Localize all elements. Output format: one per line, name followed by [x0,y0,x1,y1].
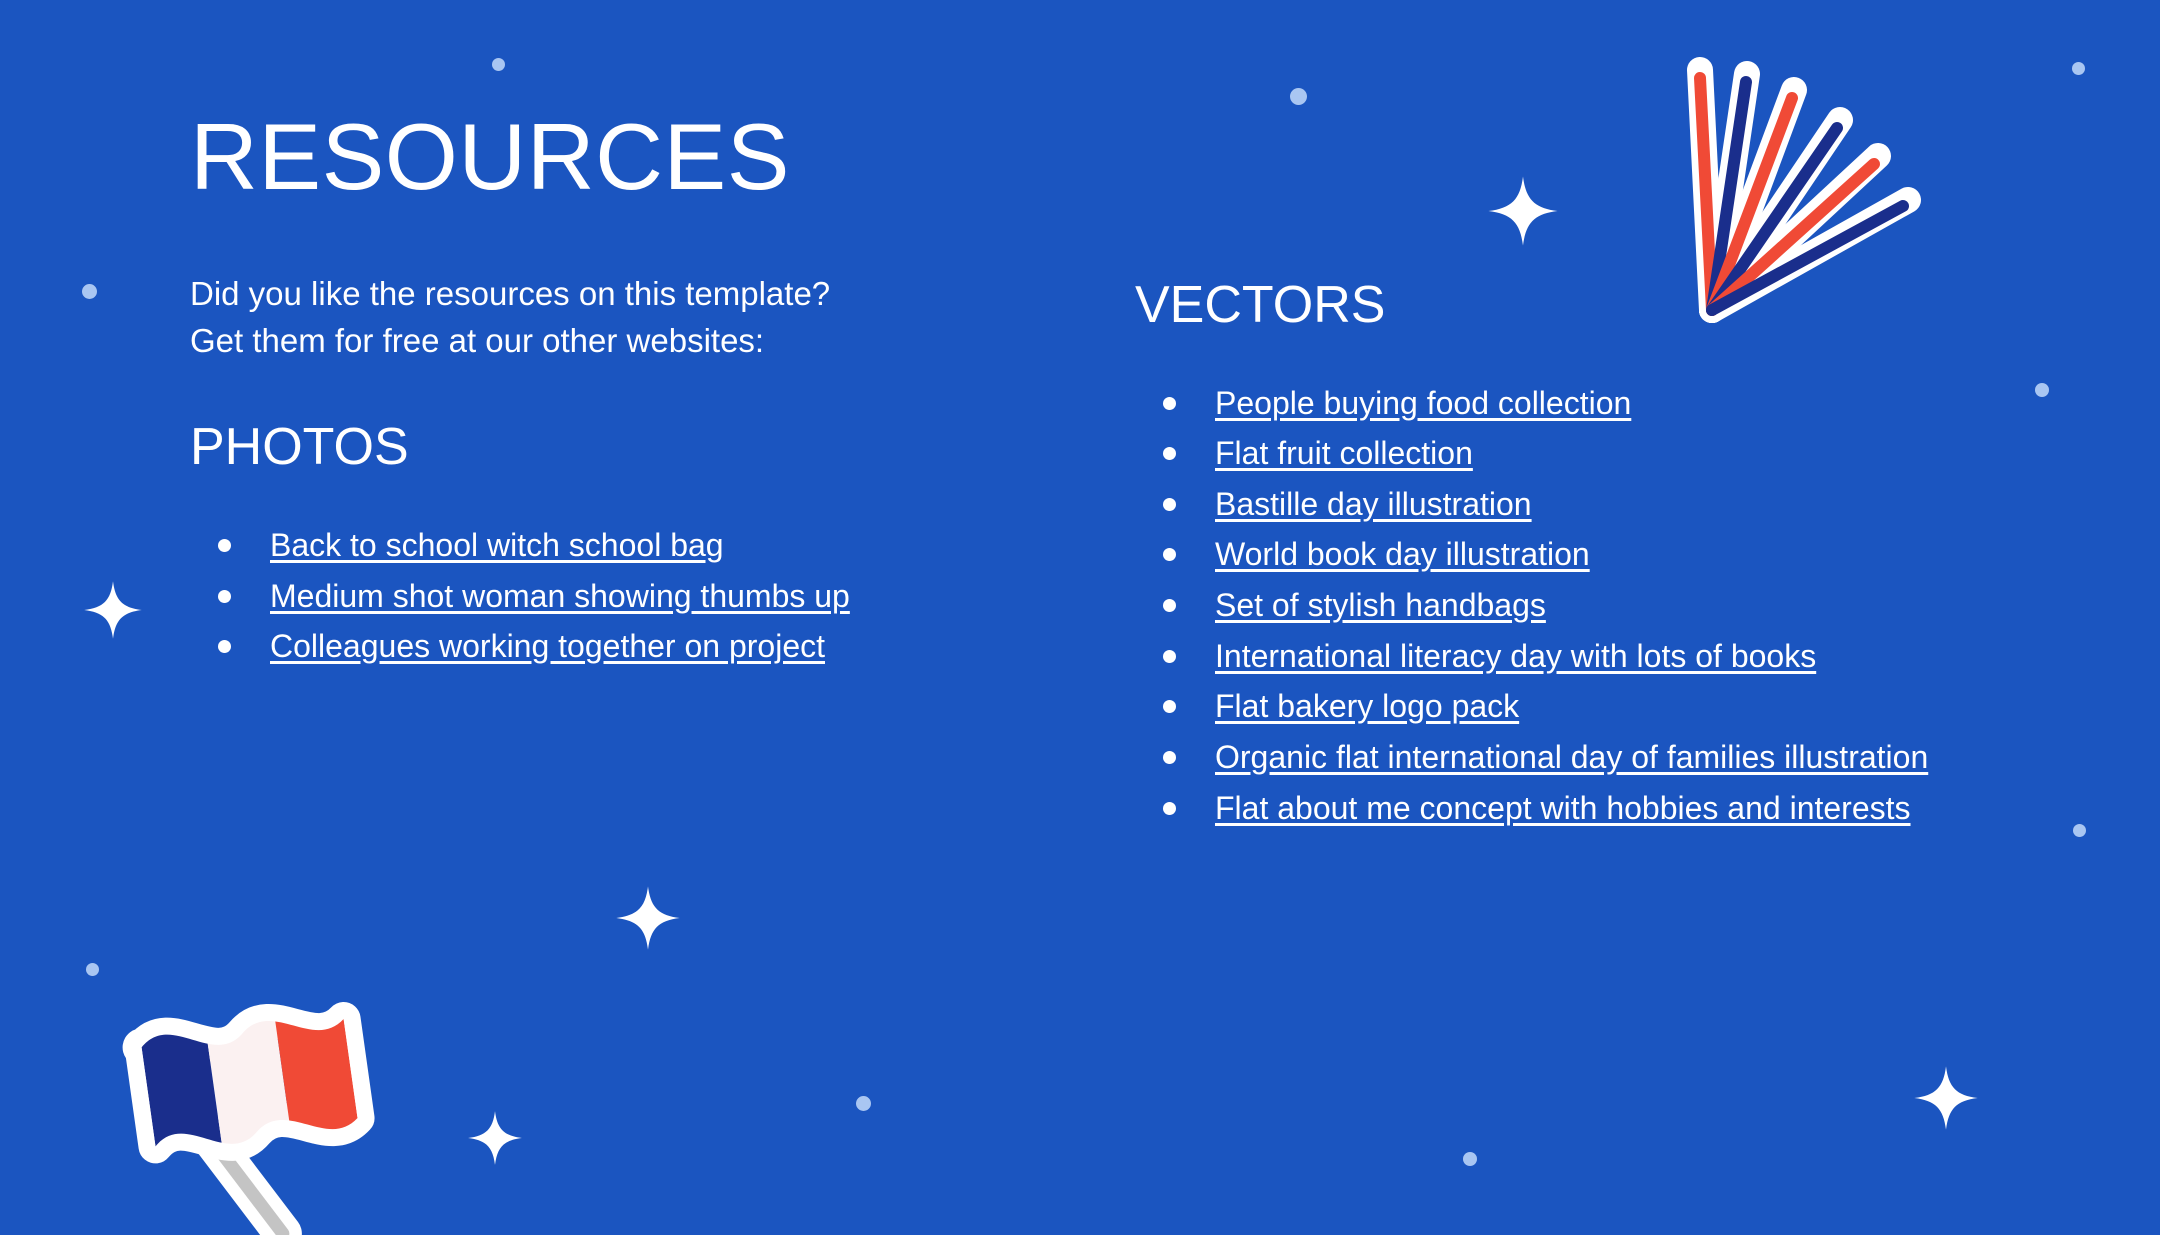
photo-link[interactable]: Colleagues working together on project [270,628,825,664]
bullet-icon [218,640,231,653]
bullet-icon [1163,700,1176,713]
bullet-icon [1163,447,1176,460]
intro-line-1: Did you like the resources on this templ… [190,275,830,312]
bullet-icon [1163,397,1176,410]
vector-link[interactable]: Flat bakery logo pack [1215,688,1519,724]
list-item: Set of stylish handbags [1135,581,1965,630]
photos-link-list: Back to school witch school bag Medium s… [190,521,1020,671]
bullet-icon [218,590,231,603]
vector-link[interactable]: International literacy day with lots of … [1215,638,1816,674]
vectors-heading: VECTORS [1135,278,1965,333]
bullet-icon [1163,548,1176,561]
list-item: Organic flat international day of famili… [1135,733,1965,782]
list-item: International literacy day with lots of … [1135,632,1965,681]
page-title: RESOURCES [190,108,1020,207]
list-item: Medium shot woman showing thumbs up [190,572,1020,621]
vectors-link-list: People buying food collection Flat fruit… [1135,379,1965,833]
list-item: Flat bakery logo pack [1135,682,1965,731]
photo-link[interactable]: Medium shot woman showing thumbs up [270,578,850,614]
slide-content: RESOURCES Did you like the resources on … [0,0,2160,1215]
bullet-icon [1163,599,1176,612]
photos-heading: PHOTOS [190,420,1020,475]
list-item: Back to school witch school bag [190,521,1020,570]
list-item: Bastille day illustration [1135,480,1965,529]
intro-line-2: Get them for free at our other websites: [190,322,764,359]
bullet-icon [1163,650,1176,663]
right-column: VECTORS People buying food collection Fl… [1135,278,1965,834]
list-item: World book day illustration [1135,530,1965,579]
left-column: RESOURCES Did you like the resources on … [190,108,1020,673]
list-item: People buying food collection [1135,379,1965,428]
bullet-icon [1163,751,1176,764]
vector-link[interactable]: Set of stylish handbags [1215,587,1546,623]
vector-link[interactable]: People buying food collection [1215,385,1631,421]
intro-paragraph: Did you like the resources on this templ… [190,271,1020,365]
bullet-icon [218,539,231,552]
vector-link[interactable]: Bastille day illustration [1215,486,1532,522]
vector-link[interactable]: Flat fruit collection [1215,435,1473,471]
list-item: Flat fruit collection [1135,429,1965,478]
bullet-icon [1163,498,1176,511]
photo-link[interactable]: Back to school witch school bag [270,527,724,563]
vector-link[interactable]: Flat about me concept with hobbies and i… [1215,790,1911,826]
bullet-icon [1163,802,1176,815]
list-item: Colleagues working together on project [190,622,1020,671]
vector-link[interactable]: Organic flat international day of famili… [1215,739,1928,775]
vector-link[interactable]: World book day illustration [1215,536,1590,572]
list-item: Flat about me concept with hobbies and i… [1135,784,1965,833]
